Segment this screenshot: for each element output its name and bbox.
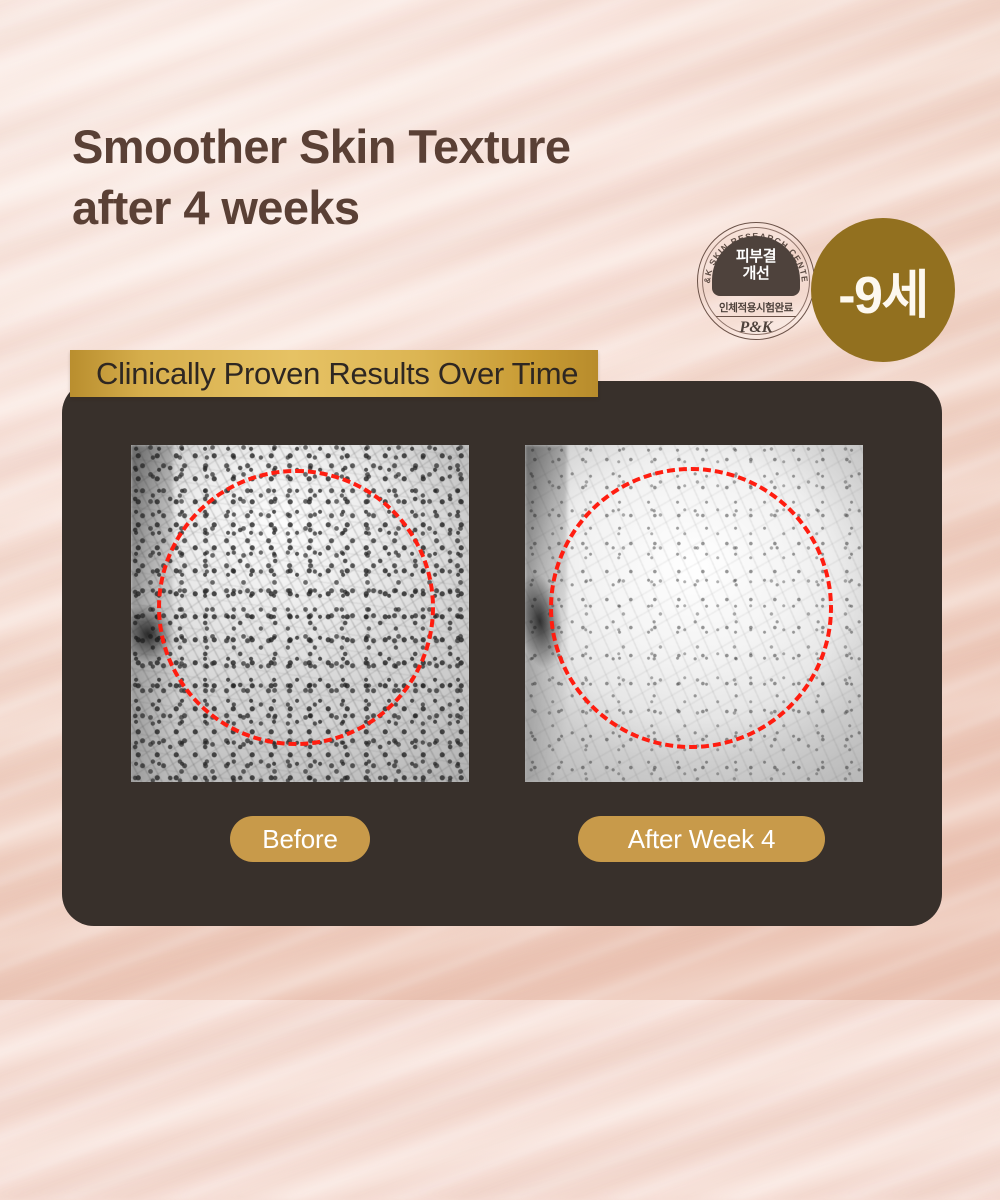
seal-certification-label: 인체적용시험완료 [697,300,815,315]
roi-dashed-circle-before [157,469,435,746]
section-banner: Clinically Proven Results Over Time [70,350,598,397]
age-reduction-value: -9세 [838,253,928,328]
seal-divider [716,316,796,317]
roi-dashed-circle-after [549,467,833,749]
pnk-certification-seal: P&K SKIN RESEARCH CENTER 피부결 개선 인체적용시험완료… [697,222,815,370]
side-caption: 피부결 개선 TOP1 이미지 [996,413,1000,638]
label-pill-after: After Week 4 [578,816,825,862]
label-pill-before: Before [230,816,370,862]
page-title: Smoother Skin Texture after 4 weeks [72,116,570,238]
skin-micrograph-after [525,445,863,782]
skin-micrograph-before [131,445,469,782]
section-banner-title: Clinically Proven Results Over Time [96,356,578,392]
seal-brand-logo: P&K [697,319,815,337]
seal-dome-label: 피부결 개선 [736,249,776,283]
age-reduction-badge: -9세 [811,218,955,362]
